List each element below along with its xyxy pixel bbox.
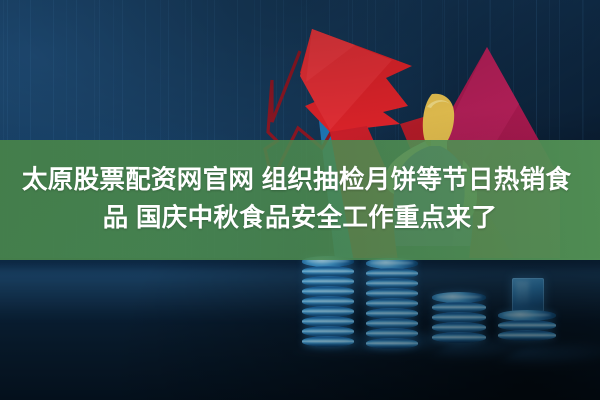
headline: 太原股票配资网官网 组织抽检月饼等节日热销食 品 国庆中秋食品安全工作重点来了 bbox=[0, 140, 600, 260]
headline-line-2: 品 国庆中秋食品安全工作重点来了 bbox=[103, 203, 497, 235]
cover-image: 太原股票配资网官网 组织抽检月饼等节日热销食 品 国庆中秋食品安全工作重点来了 bbox=[0, 0, 600, 400]
headline-line-1: 太原股票配资网官网 组织抽检月饼等节日热销食 bbox=[18, 165, 582, 197]
